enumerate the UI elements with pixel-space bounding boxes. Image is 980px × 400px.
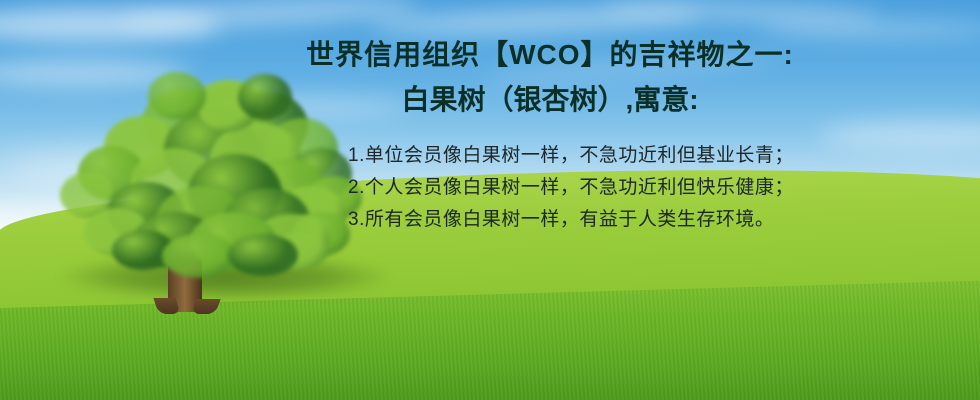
title-line-1: 世界信用组织【WCO】的吉祥物之一: [180, 32, 920, 77]
banner-title: 世界信用组织【WCO】的吉祥物之一: 白果树（银杏树）,寓意: [180, 32, 920, 122]
body-line-3: 3.所有会员像白果树一样，有益于人类生存环境。 [348, 204, 868, 236]
tree-root [191, 299, 220, 314]
banner-body-text: 1.单位会员像白果树一样，不急功近利但基业长青； 2.个人会员像白果树一样，不急… [348, 140, 868, 236]
body-line-2: 2.个人会员像白果树一样，不急功近利但快乐健康； [348, 172, 868, 204]
body-line-1: 1.单位会员像白果树一样，不急功近利但基业长青； [348, 140, 868, 172]
canopy-blob [228, 234, 298, 276]
canopy-blob [162, 234, 236, 278]
promo-banner: 世界信用组织【WCO】的吉祥物之一: 白果树（银杏树）,寓意: 1.单位会员像白… [0, 0, 980, 400]
title-line-2: 白果树（银杏树）,寓意: [180, 77, 920, 122]
